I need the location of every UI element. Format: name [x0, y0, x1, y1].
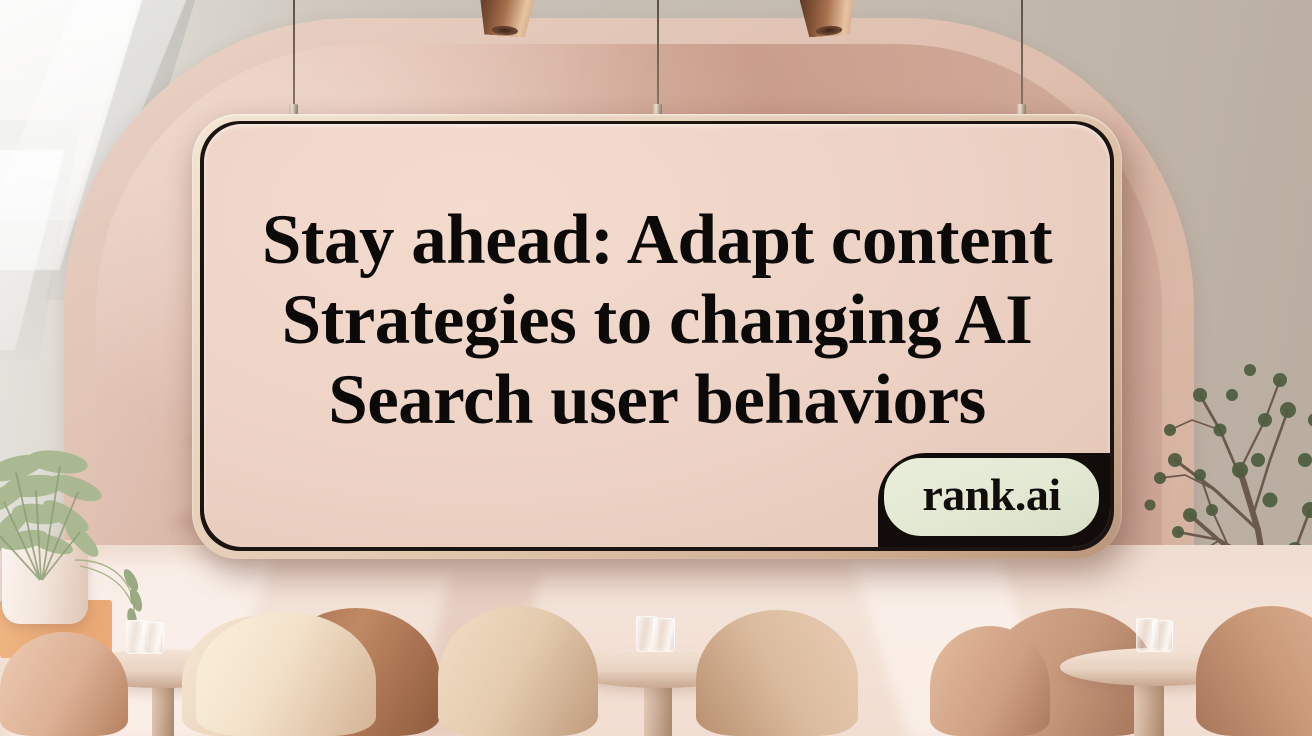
- pendant-lamp-bulb: [492, 25, 519, 36]
- headline-line-3: Search user behaviors: [230, 360, 1084, 440]
- left-potted-plant-foliage: [0, 440, 160, 620]
- pendant-lamp-bulb: [816, 25, 843, 36]
- brand-badge-label: rank.ai: [922, 472, 1060, 518]
- cafe-signage-scene: Stay ahead: Adapt content Strategies to …: [0, 0, 1312, 736]
- sign-face-panel[interactable]: Stay ahead: Adapt content Strategies to …: [204, 124, 1110, 547]
- sign-hanging-cable-center: [657, 0, 659, 118]
- sign-hanging-cable-right: [1021, 0, 1023, 118]
- headline-line-1: Stay ahead: Adapt content: [230, 200, 1084, 280]
- sign-headline: Stay ahead: Adapt content Strategies to …: [204, 200, 1110, 440]
- drinking-glass: [653, 618, 675, 652]
- drinking-glass: [142, 622, 164, 654]
- sign-hanging-cable-left: [293, 0, 295, 118]
- brand-badge[interactable]: rank.ai: [881, 455, 1102, 539]
- drinking-glass: [1152, 620, 1173, 652]
- headline-line-2: Strategies to changing AI: [230, 280, 1084, 360]
- chair-left-a: [0, 632, 128, 736]
